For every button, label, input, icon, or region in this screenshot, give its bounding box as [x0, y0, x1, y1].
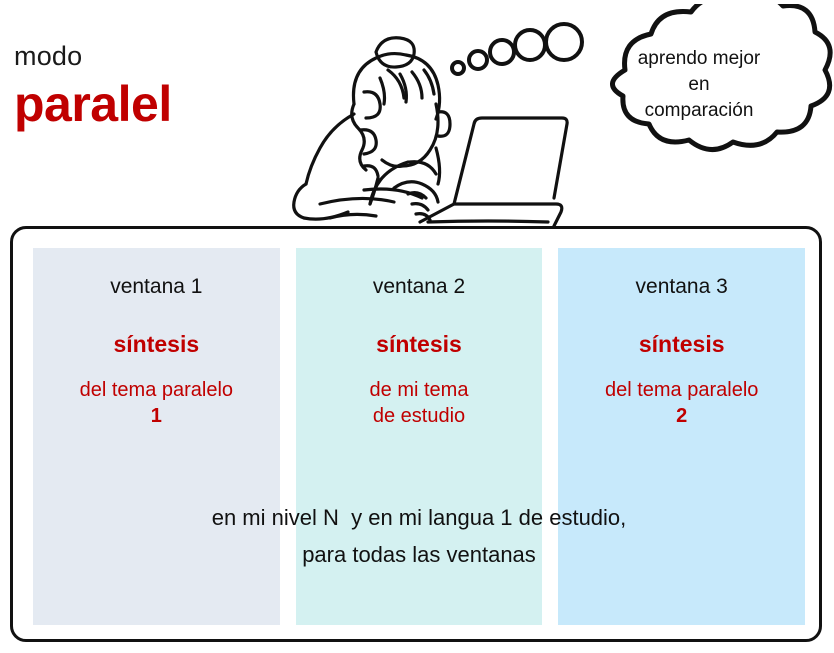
- synthesis-emphasis-3: 2: [564, 403, 799, 429]
- window-label-1: ventana 1: [39, 274, 274, 299]
- synthesis-description-2: de mi tema de estudio: [302, 377, 537, 430]
- thought-line-1: aprendo mejor: [603, 46, 795, 72]
- synthesis-description-text-2: de mi tema: [370, 379, 469, 401]
- slide-canvas: modo paralel: [0, 0, 834, 653]
- page-title: paralel: [14, 78, 274, 131]
- synthesis-description-text-1: del tema paralelo: [80, 379, 233, 401]
- thought-dot-2: [469, 51, 487, 69]
- content-panel: ventana 1 síntesis del tema paralelo 1 v…: [10, 226, 822, 642]
- synthesis-description-3: del tema paralelo 2: [564, 377, 799, 430]
- synthesis-label-2: síntesis: [302, 331, 537, 359]
- window-label-3: ventana 3: [564, 274, 799, 299]
- synthesis-description-text-3: del tema paralelo: [605, 379, 758, 401]
- window-column-2-content: ventana 2 síntesis de mi tema de estudio: [296, 274, 543, 430]
- synthesis-label-3: síntesis: [564, 331, 799, 359]
- window-column-2: ventana 2 síntesis de mi tema de estudio: [296, 248, 543, 625]
- synthesis-emphasis-1: 1: [39, 403, 274, 429]
- thought-bubble-text: aprendo mejor en comparación: [603, 46, 795, 125]
- window-column-3-content: ventana 3 síntesis del tema paralelo 2: [558, 274, 805, 430]
- thought-dot-1: [452, 62, 464, 74]
- window-column-1: ventana 1 síntesis del tema paralelo 1: [33, 248, 280, 625]
- title-block: modo paralel: [14, 42, 274, 131]
- thought-line-2: en: [603, 72, 795, 98]
- window-columns: ventana 1 síntesis del tema paralelo 1 v…: [33, 248, 805, 625]
- mode-label: modo: [14, 42, 274, 70]
- thought-dot-4: [515, 30, 545, 60]
- thought-dot-3: [490, 40, 514, 64]
- synthesis-description-1: del tema paralelo 1: [39, 377, 274, 430]
- synthesis-emphasis-2: de estudio: [302, 403, 537, 429]
- window-column-3: ventana 3 síntesis del tema paralelo 2: [558, 248, 805, 625]
- window-label-2: ventana 2: [302, 274, 537, 299]
- thought-line-3: comparación: [603, 98, 795, 124]
- window-column-1-content: ventana 1 síntesis del tema paralelo 1: [33, 274, 280, 430]
- synthesis-label-1: síntesis: [39, 331, 274, 359]
- thought-bubble: aprendo mejor en comparación: [565, 4, 833, 182]
